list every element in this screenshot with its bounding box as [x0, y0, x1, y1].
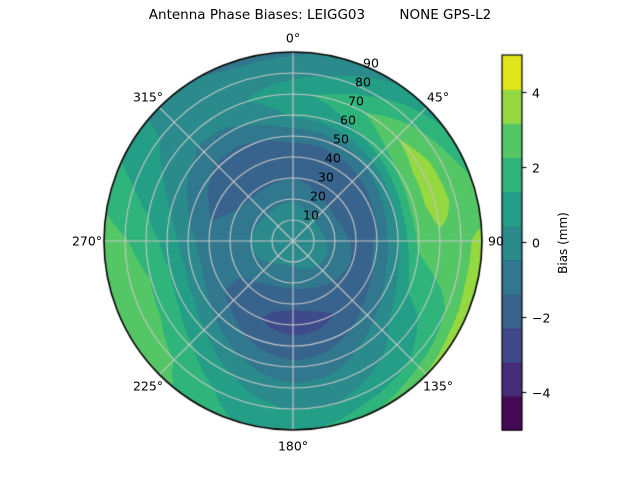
- colorbar-tick-label: −2: [532, 310, 550, 325]
- colorbar-axis-label: Bias (mm): [556, 212, 570, 274]
- azimuth-tick-label: 135°: [423, 379, 453, 394]
- radial-tick-label: 20: [310, 189, 326, 204]
- radial-tick-label: 50: [333, 132, 349, 147]
- azimuth-tick-label: 225°: [133, 379, 163, 394]
- colorbar-tick-label: 0: [532, 235, 540, 250]
- radial-tick-label: 30: [318, 170, 334, 185]
- colorbar-tick-label: −4: [532, 385, 550, 400]
- colorbar-tick-label: 4: [532, 85, 540, 100]
- radial-tick-label: 90: [363, 56, 379, 71]
- azimuth-tick-label: 45°: [427, 90, 449, 105]
- radial-tick-label: 10: [303, 208, 319, 223]
- figure-canvas: Antenna Phase Biases: LEIGG03 NONE GPS-L…: [0, 0, 640, 480]
- radial-tick-label: 40: [325, 151, 341, 166]
- azimuth-tick-label: 315°: [133, 90, 163, 105]
- colorbar-tick-label: 2: [532, 160, 540, 175]
- radial-tick-label: 80: [355, 75, 371, 90]
- azimuth-tick-label: 90: [488, 234, 504, 249]
- radial-tick-label: 60: [340, 113, 356, 128]
- radial-tick-label: 70: [348, 94, 364, 109]
- azimuth-tick-label: 180°: [278, 439, 308, 454]
- azimuth-tick-label: 0°: [286, 31, 300, 46]
- azimuth-tick-label: 270°: [72, 234, 102, 249]
